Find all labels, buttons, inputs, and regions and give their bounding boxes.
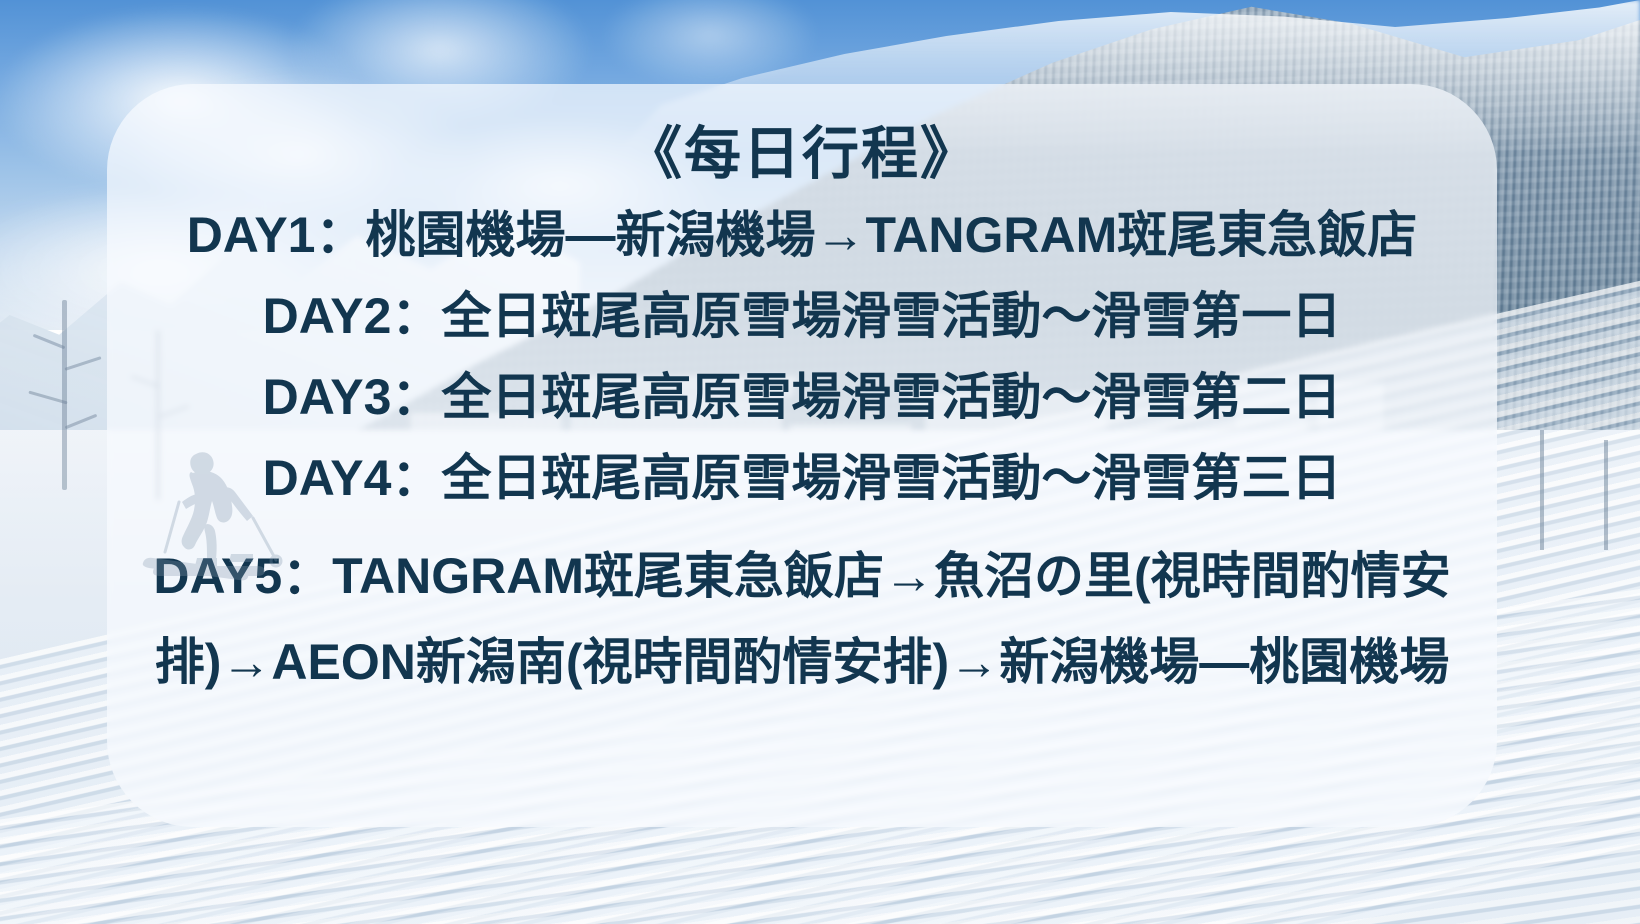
itinerary-line-day3: DAY3：全日斑尾高原雪場滑雪活動～滑雪第二日 xyxy=(263,371,1342,424)
lift-pole xyxy=(1540,430,1544,550)
itinerary-line-day2: DAY2：全日斑尾高原雪場滑雪活動～滑雪第一日 xyxy=(263,290,1342,343)
itinerary-line-day5: DAY5：TANGRAM斑尾東急飯店→魚沼の里(視時間酌情安排)→AEON新潟南… xyxy=(147,533,1457,705)
lift-pole xyxy=(1604,440,1608,550)
poster-canvas: 《每日行程》 DAY1：桃園機場—新潟機場→TANGRAM斑尾東急飯店 DAY2… xyxy=(0,0,1640,924)
bare-tree xyxy=(20,300,110,490)
itinerary-line-day4: DAY4：全日斑尾高原雪場滑雪活動～滑雪第三日 xyxy=(263,452,1342,505)
itinerary-panel: 《每日行程》 DAY1：桃園機場—新潟機場→TANGRAM斑尾東急飯店 DAY2… xyxy=(107,84,1497,827)
itinerary-line-day1: DAY1：桃園機場—新潟機場→TANGRAM斑尾東急飯店 xyxy=(187,209,1418,262)
page-title: 《每日行程》 xyxy=(625,126,979,183)
